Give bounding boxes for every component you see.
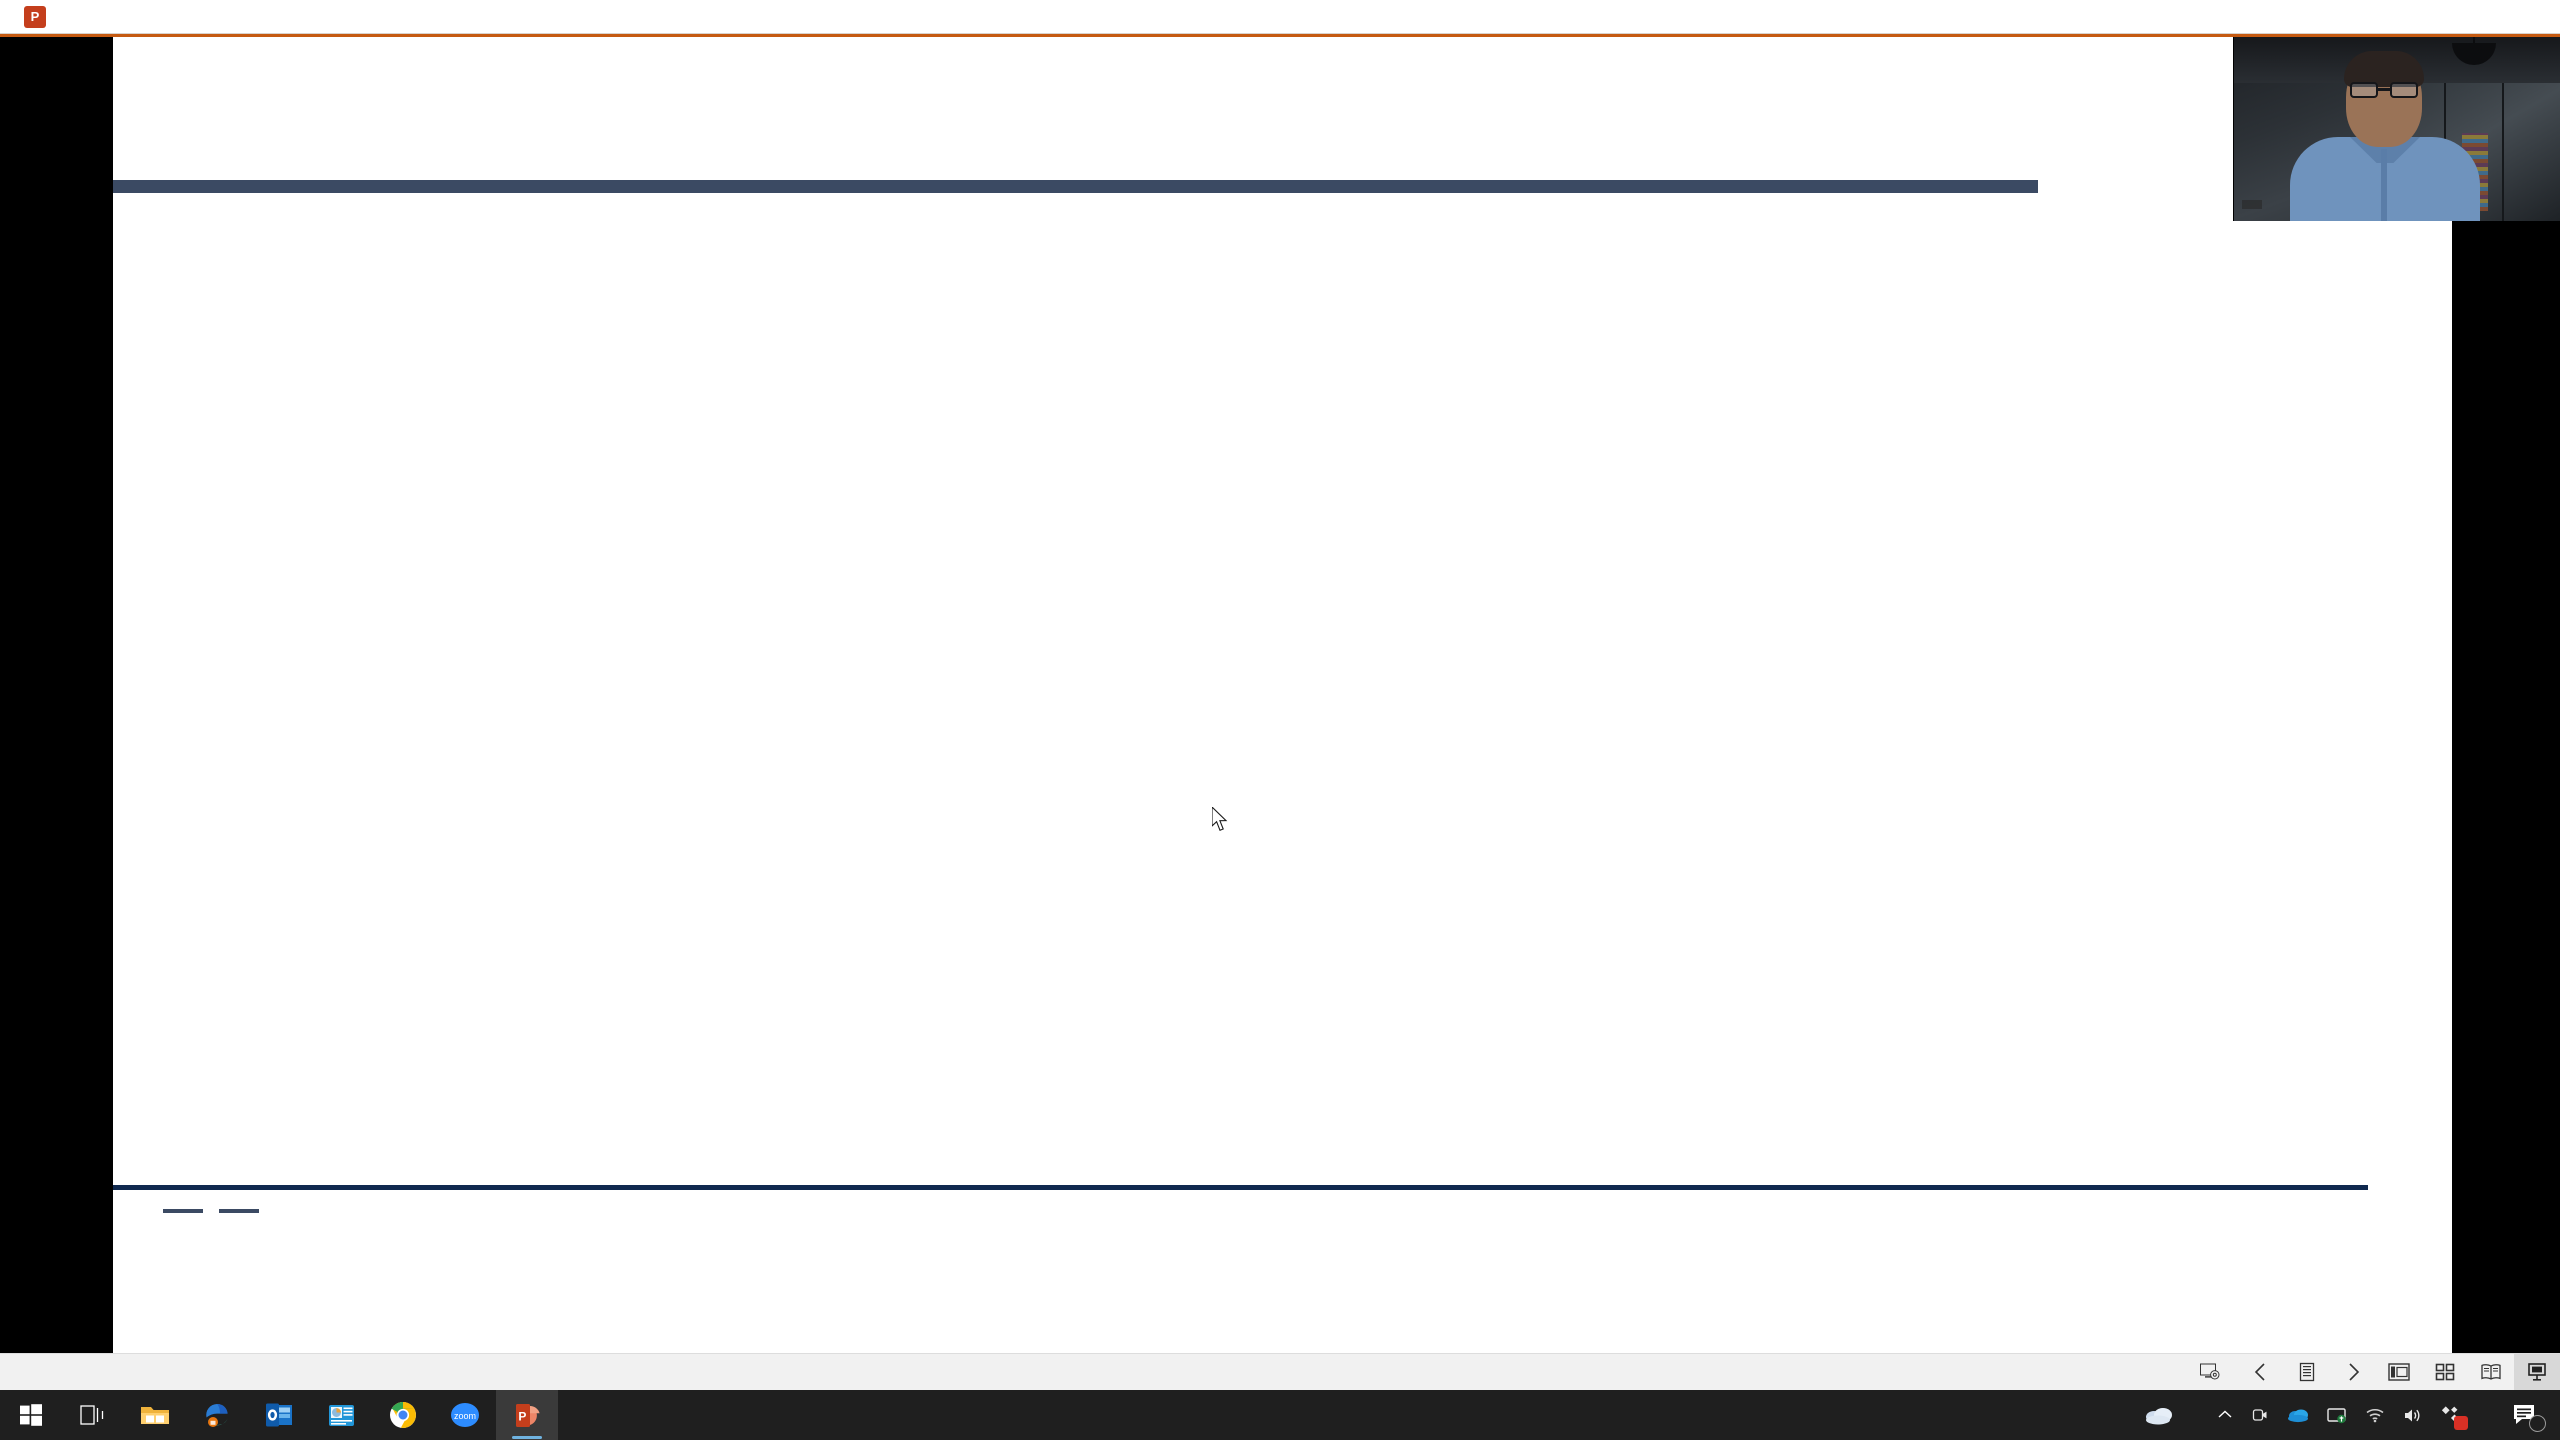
cloud-icon bbox=[2144, 1404, 2174, 1426]
clock-widget[interactable] bbox=[2470, 1390, 2498, 1440]
slideshow-view-button[interactable] bbox=[2514, 1354, 2560, 1391]
search-results-image-grid bbox=[168, 212, 2323, 1177]
wifi-icon bbox=[2365, 1407, 2385, 1423]
display-tray-icon-button[interactable] bbox=[2318, 1390, 2356, 1440]
pragmatium-logo bbox=[163, 1207, 259, 1213]
webcam-video-overlay[interactable] bbox=[2233, 37, 2560, 221]
powerpoint-icon: P bbox=[24, 6, 46, 28]
action-center-badge bbox=[2529, 1415, 2546, 1432]
powerpoint-taskbar-icon: P bbox=[514, 1402, 541, 1429]
zoom-icon: zoom bbox=[449, 1402, 481, 1428]
system-tray bbox=[2130, 1390, 2560, 1440]
eyeglasses-icon bbox=[2350, 82, 2418, 98]
next-slide-button[interactable] bbox=[2330, 1354, 2376, 1391]
file-explorer-icon bbox=[140, 1402, 170, 1428]
slide-sorter-icon bbox=[2435, 1363, 2455, 1381]
onedrive-cloud-icon bbox=[2287, 1407, 2309, 1423]
google-chrome-button[interactable] bbox=[372, 1390, 434, 1440]
office-app-icon bbox=[328, 1403, 355, 1428]
onedrive-tray-icon-button[interactable] bbox=[2278, 1390, 2318, 1440]
svg-text:P: P bbox=[518, 1409, 526, 1423]
normal-view-button[interactable] bbox=[2376, 1354, 2422, 1391]
windows-taskbar: zoom P bbox=[0, 1390, 2560, 1440]
volume-tray-icon-button[interactable] bbox=[2394, 1390, 2432, 1440]
slides-list-icon bbox=[2298, 1362, 2316, 1382]
webcam-mullion-2 bbox=[2502, 83, 2504, 221]
chevron-left-icon bbox=[2253, 1362, 2269, 1382]
file-explorer-button[interactable] bbox=[124, 1390, 186, 1440]
action-center-button[interactable] bbox=[2498, 1390, 2552, 1440]
slide-canvas[interactable] bbox=[113, 37, 2452, 1353]
office-app-button[interactable] bbox=[310, 1390, 372, 1440]
window-title-bar: P bbox=[0, 0, 2560, 34]
outlook-button[interactable] bbox=[248, 1390, 310, 1440]
weather-widget[interactable] bbox=[2130, 1404, 2208, 1426]
footer-rule bbox=[113, 1185, 2368, 1190]
display-settings-button[interactable] bbox=[2190, 1354, 2238, 1391]
network-tray-icon-button[interactable] bbox=[2356, 1390, 2394, 1440]
security-badge-count bbox=[2454, 1416, 2468, 1430]
task-view-button[interactable] bbox=[62, 1390, 124, 1440]
edge-icon bbox=[203, 1401, 231, 1429]
participant-name-label bbox=[2242, 200, 2262, 209]
logo-dash-right bbox=[219, 1209, 259, 1213]
mouse-cursor bbox=[1212, 807, 1230, 833]
reading-view-button[interactable] bbox=[2468, 1354, 2514, 1391]
powerpoint-status-bar bbox=[0, 1353, 2560, 1390]
previous-slide-button[interactable] bbox=[2238, 1354, 2284, 1391]
webcam-shirt-placket bbox=[2381, 149, 2387, 221]
reading-view-icon bbox=[2480, 1363, 2502, 1381]
all-slides-button[interactable] bbox=[2284, 1354, 2330, 1391]
monitor-icon bbox=[2327, 1407, 2347, 1424]
chevron-up-icon bbox=[2217, 1408, 2233, 1422]
start-button[interactable] bbox=[0, 1390, 62, 1440]
show-hidden-icons-button[interactable] bbox=[2208, 1390, 2242, 1440]
task-view-icon bbox=[80, 1404, 106, 1426]
svg-text:zoom: zoom bbox=[454, 1411, 476, 1421]
windows-logo-icon bbox=[19, 1403, 43, 1427]
slide-sorter-button[interactable] bbox=[2422, 1354, 2468, 1391]
zoom-button[interactable]: zoom bbox=[434, 1390, 496, 1440]
camera-icon bbox=[2251, 1406, 2269, 1424]
chrome-icon bbox=[389, 1401, 417, 1429]
powerpoint-button[interactable]: P bbox=[496, 1390, 558, 1440]
microsoft-edge-button[interactable] bbox=[186, 1390, 248, 1440]
chevron-right-icon bbox=[2345, 1362, 2361, 1382]
outlook-icon bbox=[265, 1402, 293, 1428]
slideshow-icon bbox=[2527, 1362, 2547, 1382]
display-settings-icon bbox=[2200, 1363, 2220, 1381]
normal-view-icon bbox=[2388, 1363, 2410, 1381]
speaker-icon bbox=[2403, 1407, 2423, 1424]
security-tray-icon-button[interactable] bbox=[2432, 1390, 2470, 1440]
title-underline-rule bbox=[113, 180, 2038, 193]
slide-show-stage bbox=[0, 37, 2560, 1353]
logo-dash-left bbox=[163, 1209, 203, 1213]
camera-tray-icon-button[interactable] bbox=[2242, 1390, 2278, 1440]
